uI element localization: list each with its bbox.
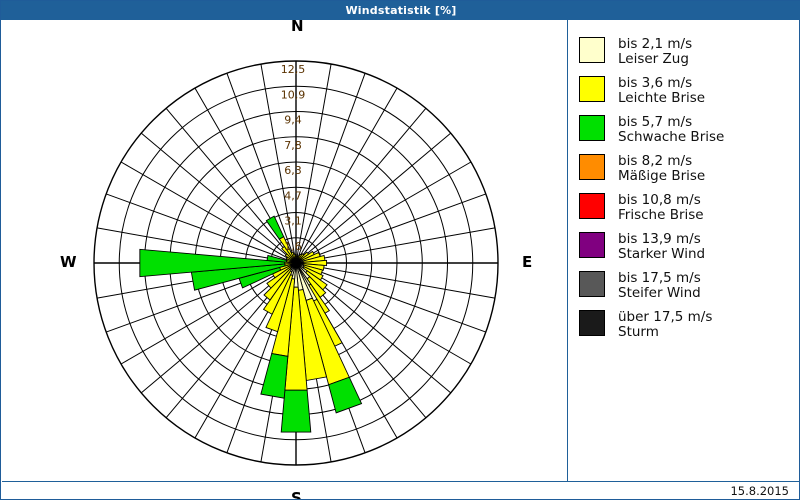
compass-label-north: N — [291, 20, 304, 35]
legend-speed-range: bis 10,8 m/s — [618, 193, 704, 208]
window-title: Windstatistik [%] — [345, 4, 456, 17]
legend-label: bis 10,8 m/sFrische Brise — [618, 193, 704, 223]
legend-color-swatch — [579, 115, 605, 141]
legend-item[interactable]: bis 10,8 m/sFrische Brise — [579, 193, 794, 223]
legend-color-swatch — [579, 271, 605, 297]
legend-beaufort-name: Frische Brise — [618, 208, 704, 223]
legend-item[interactable]: bis 5,7 m/sSchwache Brise — [579, 115, 794, 145]
legend-label: bis 3,6 m/sLeichte Brise — [618, 76, 705, 106]
legend-beaufort-name: Sturm — [618, 325, 712, 340]
legend-label: über 17,5 m/sSturm — [618, 310, 712, 340]
radial-tick-label: 6,3 — [284, 164, 302, 177]
legend-label: bis 13,9 m/sStarker Wind — [618, 232, 705, 262]
compass-label-south: S — [291, 489, 302, 499]
radial-tick-label: 9,4 — [284, 114, 302, 127]
footer-date: 15.8.2015 — [730, 484, 789, 498]
wind-petal-segment — [281, 390, 311, 432]
wind-petal-segment — [266, 216, 283, 239]
legend-label: bis 5,7 m/sSchwache Brise — [618, 115, 724, 145]
legend-item[interactable]: bis 3,6 m/sLeichte Brise — [579, 76, 794, 106]
compass-label-east: E — [522, 253, 532, 271]
legend-label: bis 8,2 m/sMäßige Brise — [618, 154, 705, 184]
legend-label: bis 17,5 m/sSteifer Wind — [618, 271, 701, 301]
legend-item[interactable]: über 17,5 m/sSturm — [579, 310, 794, 340]
radial-tick-label: 4,7 — [284, 189, 302, 202]
legend-speed-range: bis 2,1 m/s — [618, 37, 692, 52]
legend: bis 2,1 m/sLeiser Zugbis 3,6 m/sLeichte … — [579, 37, 794, 349]
legend-beaufort-name: Leichte Brise — [618, 91, 705, 106]
legend-speed-range: bis 3,6 m/s — [618, 76, 705, 91]
wind-rose-plot: 1,63,14,76,37,89,410,912,5 N E S W — [2, 20, 567, 499]
legend-speed-range: über 17,5 m/s — [618, 310, 712, 325]
wind-rose-svg: 1,63,14,76,37,89,410,912,5 — [2, 20, 567, 499]
legend-color-swatch — [579, 37, 605, 63]
legend-beaufort-name: Steifer Wind — [618, 286, 701, 301]
panel-divider-horizontal — [2, 481, 800, 482]
compass-label-west: W — [60, 253, 77, 271]
radial-tick-label: 1,6 — [284, 240, 302, 253]
legend-item[interactable]: bis 17,5 m/sSteifer Wind — [579, 271, 794, 301]
radial-tick-label: 12,5 — [281, 63, 306, 76]
legend-color-swatch — [579, 310, 605, 336]
legend-color-swatch — [579, 232, 605, 258]
panel-divider-vertical — [567, 20, 568, 481]
radial-tick-label: 10,9 — [281, 88, 306, 101]
wind-petal-segment — [329, 377, 362, 413]
legend-color-swatch — [579, 76, 605, 102]
wind-petal-segment — [261, 354, 288, 399]
legend-beaufort-name: Leiser Zug — [618, 52, 692, 67]
rose-center-hub — [294, 261, 299, 266]
legend-beaufort-name: Schwache Brise — [618, 130, 724, 145]
legend-speed-range: bis 17,5 m/s — [618, 271, 701, 286]
legend-speed-range: bis 5,7 m/s — [618, 115, 724, 130]
legend-color-swatch — [579, 154, 605, 180]
legend-item[interactable]: bis 8,2 m/sMäßige Brise — [579, 154, 794, 184]
legend-speed-range: bis 8,2 m/s — [618, 154, 705, 169]
legend-beaufort-name: Mäßige Brise — [618, 169, 705, 184]
legend-item[interactable]: bis 2,1 m/sLeiser Zug — [579, 37, 794, 67]
legend-speed-range: bis 13,9 m/s — [618, 232, 705, 247]
window-title-bar: Windstatistik [%] — [1, 1, 800, 20]
legend-item[interactable]: bis 13,9 m/sStarker Wind — [579, 232, 794, 262]
wind-rose-window: Windstatistik [%] 1,63,14,76,37,89,410,9… — [0, 0, 800, 500]
legend-label: bis 2,1 m/sLeiser Zug — [618, 37, 692, 67]
legend-beaufort-name: Starker Wind — [618, 247, 705, 262]
radial-tick-label: 3,1 — [284, 215, 302, 228]
radial-tick-labels: 1,63,14,76,37,89,410,912,5 — [281, 63, 306, 253]
radial-tick-label: 7,8 — [284, 139, 302, 152]
legend-color-swatch — [579, 193, 605, 219]
